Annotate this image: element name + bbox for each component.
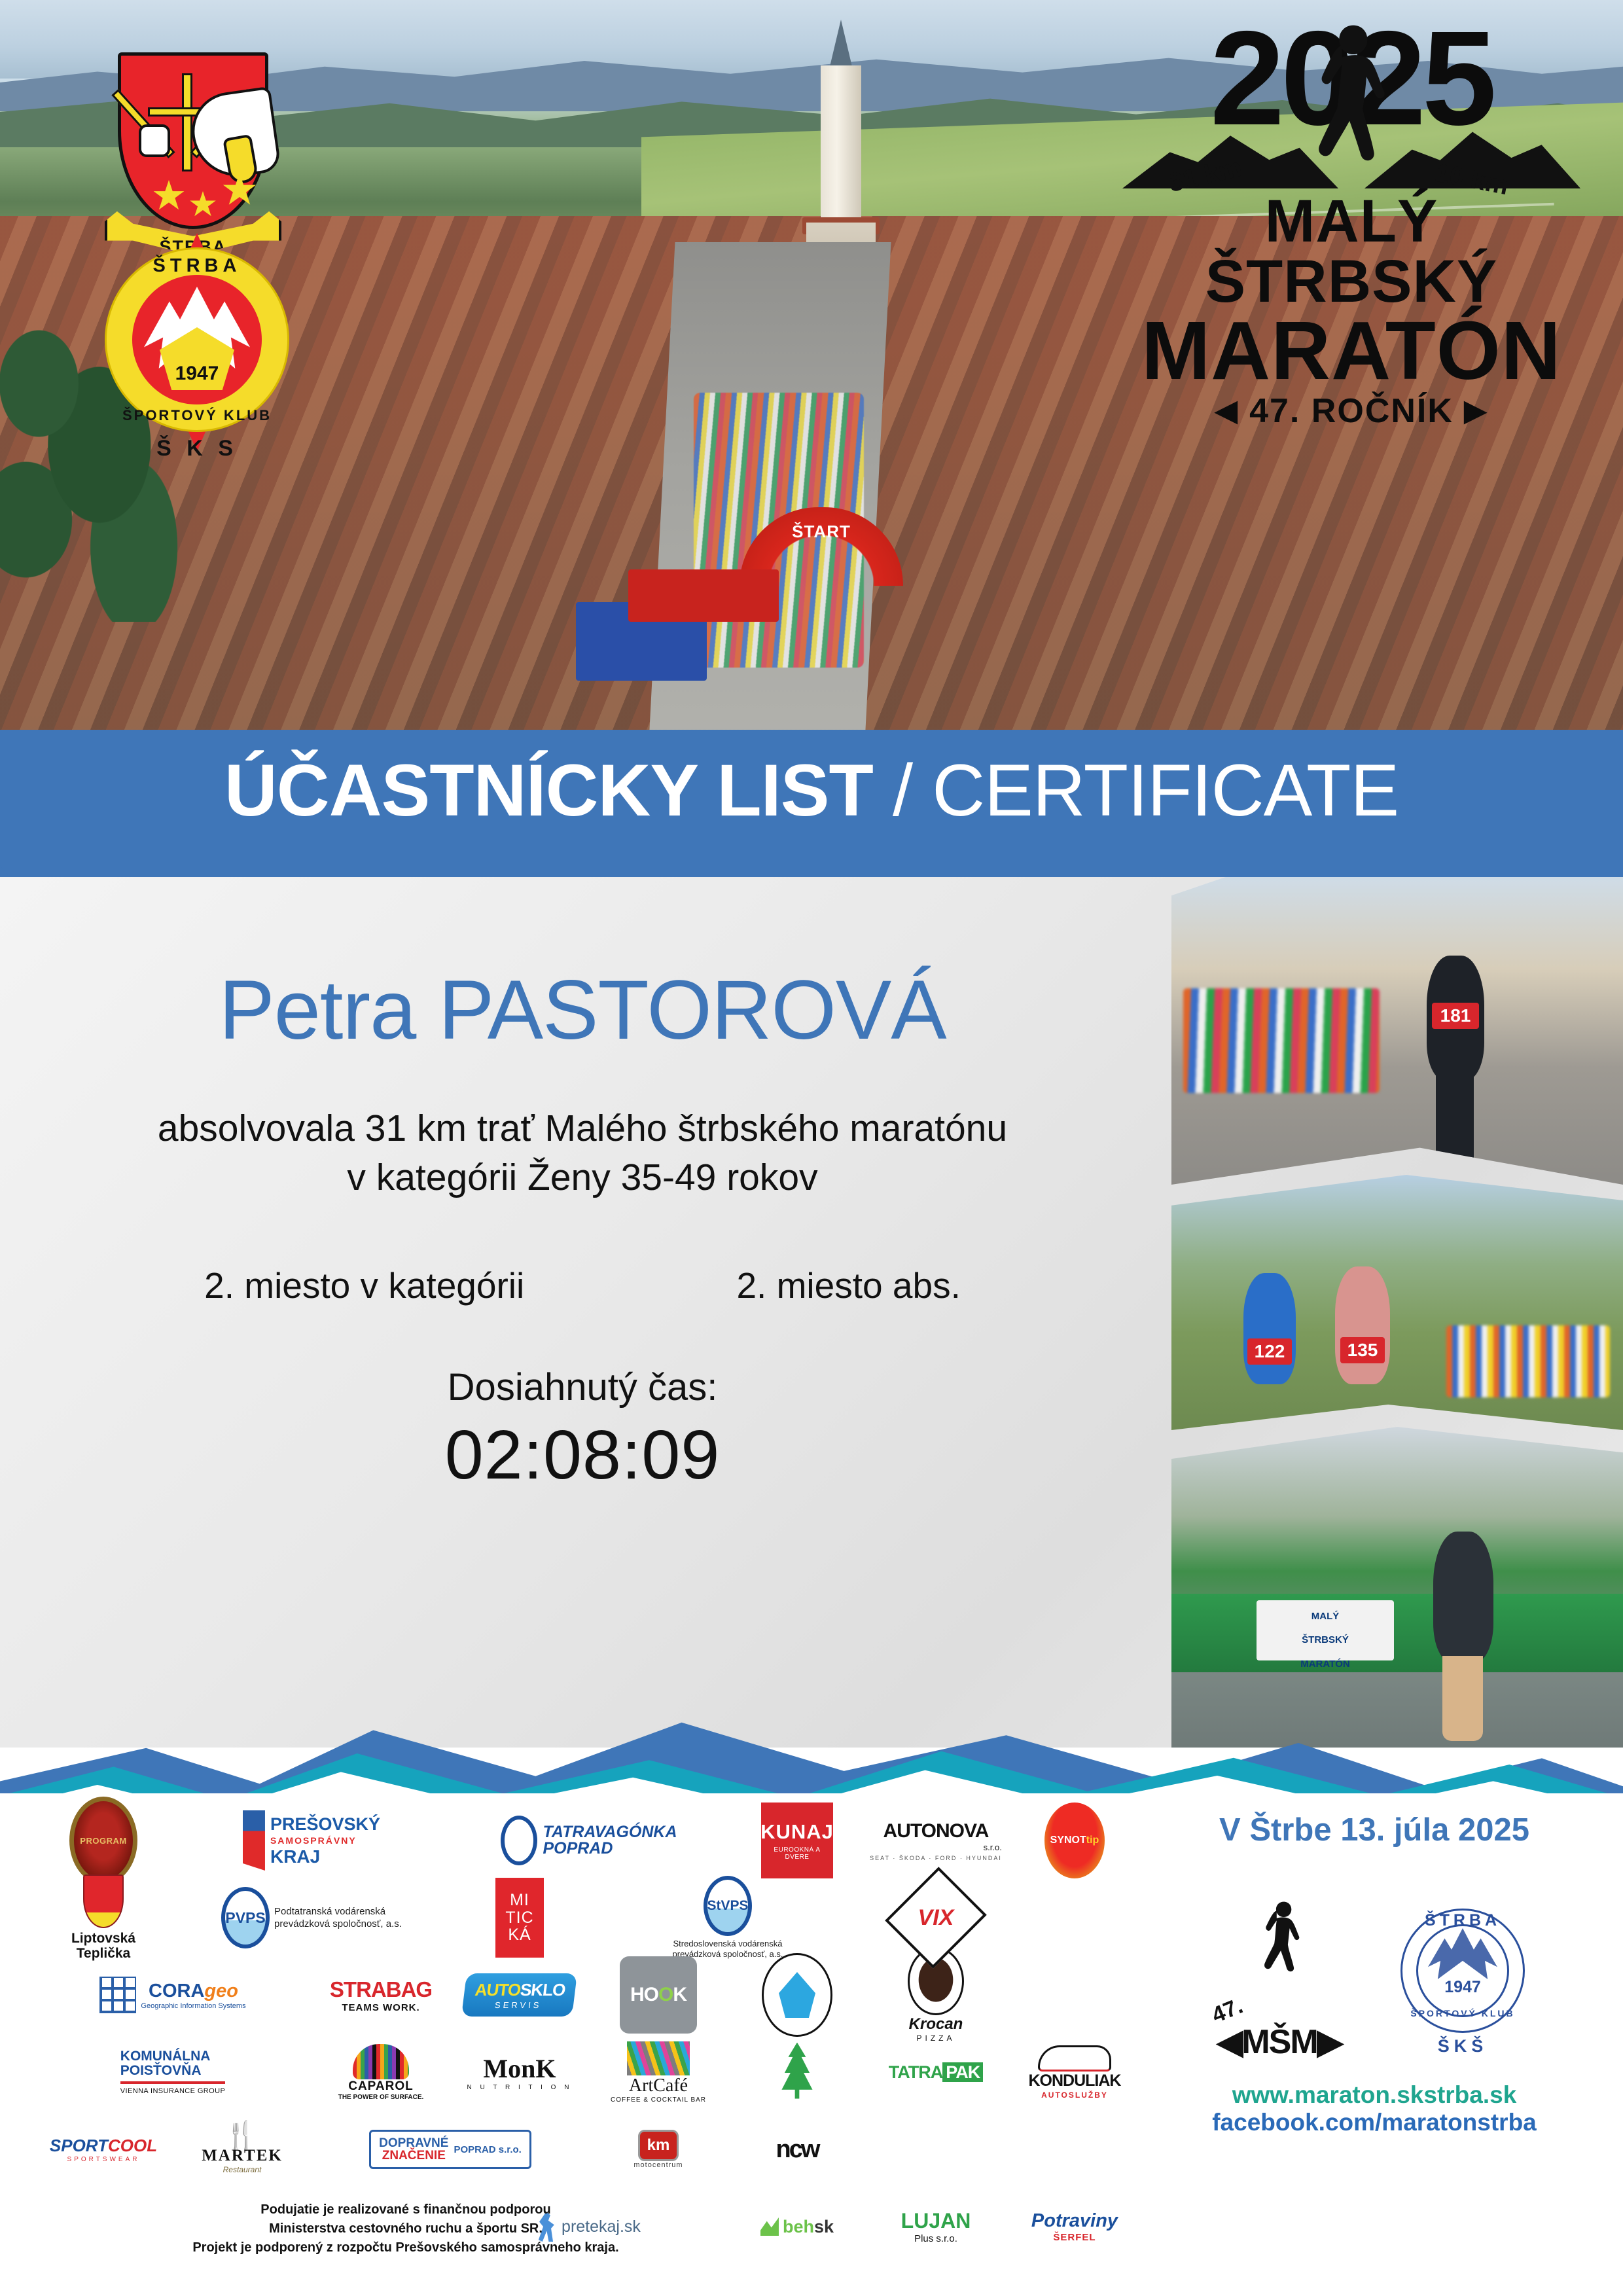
sponsor-label: km bbox=[638, 2130, 679, 2161]
autonova-logo: AUTONOVA s.r.o. SEAT · ŠKODA · FORD · HY… bbox=[870, 1820, 1002, 1861]
sponsor-tatravagonka: TATRAVAGÓNKA POPRAD bbox=[452, 1805, 726, 1876]
komunalna-poistovna-logo: KOMUNÁLNA POISŤOVŇA VIENNA INSURANCE GRO… bbox=[120, 2049, 225, 2095]
sponsor-label: MonK bbox=[467, 2053, 573, 2084]
sponsor-sublabel2: POPRAD s.r.o. bbox=[454, 2144, 521, 2155]
caparol-logo: CAPAROL THE POWER OF SURFACE. bbox=[338, 2044, 424, 2101]
sponsor-label: AUTO bbox=[474, 1980, 522, 2000]
water-drop-icon: PVPS bbox=[221, 1887, 270, 1948]
strabag-logo: STRABAG TEAMS WORK. bbox=[330, 1977, 432, 2013]
place-and-date: V Štrbe 13. júla 2025 bbox=[1145, 1812, 1603, 1848]
sponsor-sportcool: SPORTCOOL SPORTSWEAR bbox=[36, 2114, 171, 2185]
cross-vertical bbox=[182, 73, 192, 171]
runner-legs bbox=[1436, 1073, 1474, 1172]
sponsor-pvps: PVPS Podtatranská vodárenská prevádzková… bbox=[175, 1882, 448, 1953]
sponsor-autosklo: AUTOSKLO SERVIS bbox=[452, 1960, 587, 2030]
stamp-year: 1947 bbox=[1387, 1978, 1538, 1997]
flag-icon bbox=[243, 1810, 265, 1871]
vix-logo: VIX bbox=[885, 1867, 987, 1969]
sponsor-label: KONDULIAK bbox=[1029, 2072, 1121, 2090]
sponsor-corageo: CORAgeo Geographic Information Systems bbox=[36, 1960, 310, 2030]
sponsor-label: ArtCafé bbox=[611, 2075, 706, 2096]
sponsor-sublabel: ŠERFEL bbox=[1031, 2232, 1118, 2243]
footer-logos: 47. ◀MŠM▶ ŠTRBA 1947 ŠPORTOVÝ KLUB ŠKŠ bbox=[1145, 1899, 1603, 2063]
sponsor-label: CAPAROL bbox=[338, 2079, 424, 2094]
autosklo-logo: AUTOSKLO SERVIS bbox=[461, 1973, 578, 2017]
sks-stamp-logo: ŠTRBA 1947 ŠPORTOVÝ KLUB ŠKŠ bbox=[1387, 1899, 1538, 2063]
sponsor-sublabel2: SPORTSWEAR bbox=[50, 2156, 157, 2163]
sponsor-strabag: STRABAG TEAMS WORK. bbox=[313, 1960, 448, 2030]
photo-course: 122 135 bbox=[1171, 1175, 1623, 1430]
sponsor-potraviny-serfel: Potraviny ŠERFEL bbox=[1007, 2191, 1142, 2262]
water-drop-icon: StVPS bbox=[704, 1876, 752, 1936]
sponsor-sublabel: ZNAČENIE bbox=[382, 2149, 446, 2162]
sponsor-sublabel2: Geographic Information Systems bbox=[141, 2002, 245, 2010]
bib-number: 135 bbox=[1340, 1337, 1385, 1363]
sponsor-sublabel: geo bbox=[204, 1981, 238, 2001]
sponsor-label: SYNOT bbox=[1050, 1835, 1086, 1846]
corageo-logo: CORAgeo Geographic Information Systems bbox=[99, 1977, 245, 2013]
sponsor-presovsky-kraj: PREŠOVSKÝ SAMOSPRÁVNY KRAJ bbox=[175, 1805, 448, 1876]
artcafe-logo: ArtCafé COFFEE & COCKTAIL BAR bbox=[611, 2041, 706, 2104]
sponsor-sublabel: O bbox=[658, 1984, 673, 2006]
sponsor-kunaj: KUNAJ EUROOKNÁ A DVERE bbox=[730, 1805, 865, 1876]
sponsor-konduliak: KONDULIAK AUTOSLUŽBY bbox=[1007, 2037, 1142, 2108]
club-year: 1947 bbox=[105, 363, 289, 385]
sponsor-dopravne-znacenie: DOPRAVNÉ ZNAČENIE POPRAD s.r.o. bbox=[313, 2114, 587, 2185]
event-edition-row: ◀ 47. ROČNÍK ▶ bbox=[1116, 391, 1587, 431]
water-drop-icon bbox=[779, 1972, 815, 2018]
sponsor-sublabel: EUROOKNÁ A DVERE bbox=[761, 1846, 833, 1861]
sponsor-ncw: ncw bbox=[730, 2114, 865, 2185]
sponsor-autonova: AUTONOVA s.r.o. SEAT · ŠKODA · FORD · HY… bbox=[868, 1805, 1003, 1876]
sponsor-sublabel: COFFEE & COCKTAIL BAR bbox=[611, 2096, 706, 2104]
certificate-page: ŠTART ŠTRBA ŠTRBA 1947 ŠPORTOVÝ KLUB Š K… bbox=[0, 0, 1623, 2296]
sponsor-label: KUNAJ bbox=[760, 1820, 834, 1844]
sponsor-label: PVPS bbox=[225, 1909, 265, 1927]
sponsor-program-trencin: PROGRAM bbox=[36, 1805, 171, 1876]
msm-abbrev-text: MŠM bbox=[1241, 2023, 1317, 2061]
synot-tip-logo: SYNOTtip bbox=[1044, 1803, 1105, 1878]
sponsor-sublabel2: VIENNA INSURANCE GROUP bbox=[120, 2087, 225, 2095]
sign-line3: MARATÓN bbox=[1257, 1657, 1394, 1672]
description-line1: absolvovala 31 km trať Malého štrbského … bbox=[39, 1104, 1126, 1153]
event-title-line2: MARATÓN bbox=[1116, 312, 1587, 390]
martek-restaurant-logo: 🍴 MARTEK Restaurant bbox=[202, 2125, 283, 2174]
sponsor-label: ncw bbox=[776, 2136, 819, 2163]
event-banner-sign: MALÝ ŠTRBSKÝ MARATÓN bbox=[1257, 1600, 1394, 1660]
sponsor-label: SPORT bbox=[50, 2136, 108, 2155]
stamp-ring-text: ŠPORTOVÝ KLUB bbox=[1387, 2008, 1538, 2018]
sponsor-label: beh bbox=[783, 2217, 814, 2236]
facebook-url[interactable]: facebook.com/maratonstrba bbox=[1145, 2109, 1603, 2136]
sponsor-sublabel: PAK bbox=[942, 2062, 983, 2082]
sponsor-label: Krocan bbox=[908, 2015, 964, 2034]
participant-name: Petra PASTOROVÁ bbox=[39, 962, 1126, 1058]
km-motocentrum-logo: km motocentrum bbox=[633, 2130, 683, 2169]
bib-number: 122 bbox=[1247, 1338, 1292, 1365]
sponsor-sublabel: THE POWER OF SURFACE. bbox=[338, 2094, 424, 2101]
club-top-text: ŠTRBA bbox=[105, 255, 289, 277]
sponsor-sublabel2: SERVIS bbox=[473, 2000, 563, 2010]
sponsor-sublabel: tip bbox=[1086, 1835, 1099, 1846]
tatrapak-logo: TATRAPAK bbox=[889, 2062, 984, 2083]
photo-collage: 181 122 135 MALÝ ŠTRBSKÝ MARATÓN bbox=[1171, 877, 1623, 1748]
sponsor-lujan: LUJAN Plus s.r.o. bbox=[868, 2191, 1003, 2262]
funding-disclaimer: Podujatie je realizované s finančnou pod… bbox=[52, 2200, 759, 2257]
sponsor-caparol: CAPAROL THE POWER OF SURFACE. bbox=[313, 2037, 448, 2108]
green-barrier bbox=[1171, 1594, 1623, 1672]
sponsor-sublabel: Teplička bbox=[71, 1946, 135, 1961]
sponsor-sublabel: TIC bbox=[505, 1909, 533, 1927]
sponsor-sublabel: Restaurant bbox=[202, 2165, 283, 2174]
sponsor-label: PREŠOVSKÝ bbox=[270, 1816, 380, 1833]
mountain-distance-graphic: 31 km 10 km bbox=[1116, 127, 1587, 191]
dopravne-znacenie-logo: DOPRAVNÉ ZNAČENIE POPRAD s.r.o. bbox=[369, 2130, 531, 2169]
ellipse-icon bbox=[501, 1816, 537, 1865]
fist bbox=[139, 124, 170, 157]
lujan-logo: LUJAN Plus s.r.o. bbox=[901, 2209, 971, 2244]
potraviny-serfel-logo: Potraviny ŠERFEL bbox=[1031, 2210, 1118, 2243]
sponsor-km-motocentrum: km motocentrum bbox=[591, 2114, 726, 2185]
disclaimer-line1: Podujatie je realizované s finančnou pod… bbox=[52, 2200, 759, 2219]
bib-number: 181 bbox=[1432, 1003, 1479, 1029]
sponsor-pd-strba bbox=[730, 1960, 865, 2030]
tatravagonka-logo: TATRAVAGÓNKA POPRAD bbox=[501, 1816, 677, 1865]
sponsor-sublabel2: KÁ bbox=[508, 1926, 531, 1944]
contact-urls: www.maraton.skstrba.sk facebook.com/mara… bbox=[1145, 2081, 1603, 2136]
event-title-block: 2025 31 km 10 km MALÝ ŠTRBSKÝ MARATÓN ◀ … bbox=[1116, 26, 1587, 431]
sponsor-label: TATRA bbox=[889, 2062, 942, 2082]
msm-abbrev: ◀MŠM▶ bbox=[1211, 2022, 1348, 2062]
sponsor-label: PROGRAM bbox=[80, 1836, 126, 1846]
sponsor-label: Potraviny bbox=[1031, 2210, 1118, 2232]
banner-title-sk: ÚČASTNÍCKY LIST bbox=[224, 749, 873, 831]
sponsor-sublabel: SAMOSPRÁVNY bbox=[270, 1835, 380, 1846]
sponsor-synot-tip: SYNOTtip bbox=[1007, 1805, 1142, 1876]
spectators bbox=[1183, 988, 1380, 1093]
banner-separator: / bbox=[873, 749, 932, 831]
sponsor-sublabel: motocentrum bbox=[633, 2161, 683, 2169]
stamp-top-text: ŠTRBA bbox=[1387, 1911, 1538, 1930]
sponsor-label: StVPS bbox=[707, 1898, 748, 1914]
sponsor-label: DOPRAVNÉ bbox=[379, 2137, 448, 2149]
sponsor-sublabel2: K bbox=[673, 1984, 687, 2006]
sponsor-komunalna-poistovna: KOMUNÁLNA POISŤOVŇA VIENNA INSURANCE GRO… bbox=[36, 2037, 310, 2108]
stvps-logo: StVPS Stredoslovenská vodárenská prevádz… bbox=[673, 1876, 783, 1960]
finish-time: 02:08:09 bbox=[39, 1416, 1126, 1495]
sponsor-monk: MonK N U T R I T I O N bbox=[452, 2037, 587, 2108]
sponsor-artcafe: ArtCafé COFFEE & COCKTAIL BAR bbox=[591, 2037, 726, 2108]
sponsor-sublabel: N U T R I T I O N bbox=[467, 2084, 573, 2091]
sponsor-ps-urbar-strba: PS URBÁR ŠTRBA bbox=[730, 2037, 865, 2108]
sponsor-sublabel: TEAMS WORK. bbox=[330, 2002, 432, 2013]
sportcool-logo: SPORTCOOL SPORTSWEAR bbox=[50, 2136, 157, 2163]
sponsor-sublabel: POPRAD bbox=[543, 1840, 677, 1857]
stamp-bottom-text: ŠKŠ bbox=[1387, 2036, 1538, 2056]
runner-silhouette-icon bbox=[1251, 1899, 1311, 2017]
sponsor-sublabel: Podtatranská vodárenská bbox=[274, 1905, 402, 1918]
shield-icon bbox=[83, 1874, 124, 1928]
disclaimer-line2: Ministerstva cestovného ruchu a športu S… bbox=[52, 2219, 759, 2238]
winning-runner bbox=[1433, 1532, 1493, 1662]
disclaimer-line3: Projekt je podporený z rozpočtu Prešovsk… bbox=[52, 2238, 759, 2257]
grid-icon bbox=[99, 1977, 136, 2013]
konduliak-logo: KONDULIAK AUTOSLUŽBY bbox=[1029, 2045, 1121, 2100]
car-brands: SEAT · ŠKODA · FORD · HYUNDAI bbox=[870, 1855, 1002, 1861]
program-trencin-logo: PROGRAM bbox=[69, 1797, 137, 1884]
sponsor-sublabel: Plus s.r.o. bbox=[901, 2233, 971, 2244]
footer-right-column: V Štrbe 13. júla 2025 47. ◀MŠM▶ ŠTRBA bbox=[1145, 1800, 1603, 2136]
sponsor-tatrapak: TATRAPAK bbox=[868, 2037, 1003, 2108]
liptovska-teplicka-logo: Liptovská Teplička bbox=[71, 1874, 135, 1961]
sponsor-sublabel: sk bbox=[814, 2217, 834, 2236]
miticka-logo: MI TIC KÁ bbox=[495, 1878, 544, 1958]
website-url[interactable]: www.maraton.skstrba.sk bbox=[1145, 2081, 1603, 2109]
sponsor-sublabel: SKLO bbox=[520, 1980, 567, 2000]
red-tent bbox=[628, 569, 779, 622]
msm-logo: 47. ◀MŠM▶ bbox=[1211, 1899, 1348, 2063]
runner-body bbox=[1243, 1273, 1296, 1384]
sponsor-miticka: MI TIC KÁ bbox=[452, 1882, 587, 1953]
sponsor-vix: VIX bbox=[868, 1882, 1003, 1953]
sponsor-label: KOMUNÁLNA bbox=[120, 2049, 225, 2064]
sponsor-stvps: StVPS Stredoslovenská vodárenská prevádz… bbox=[591, 1882, 865, 1953]
divider bbox=[120, 2081, 225, 2084]
club-abbrev: Š K S bbox=[105, 436, 289, 461]
sponsor-hook: HOOK bbox=[591, 1960, 726, 2030]
sponsor-liptovska-teplicka: Liptovská Teplička bbox=[36, 1882, 171, 1953]
beh-sk-logo: behsk bbox=[760, 2217, 834, 2237]
placements-row: 2. miesto v kategórii 2. miesto abs. bbox=[39, 1265, 1126, 1306]
sponsor-sublabel2: KRAJ bbox=[270, 1848, 380, 1866]
description-line2: v kategórii Ženy 35-49 rokov bbox=[39, 1153, 1126, 1202]
sponsor-label: TATRAVAGÓNKA bbox=[543, 1824, 677, 1840]
sponsor-grid: PROGRAM PREŠOVSKÝ SAMOSPRÁVNY KRAJ bbox=[36, 1805, 1142, 2262]
sponsor-label: Liptovská bbox=[71, 1931, 135, 1946]
sponsor-krocan-pizza: Krocan PIZZA bbox=[868, 1960, 1003, 2030]
check-icon bbox=[760, 2217, 779, 2236]
certificate-description: absolvovala 31 km trať Malého štrbského … bbox=[39, 1104, 1126, 1202]
arrow-right-icon: ▶ bbox=[1464, 395, 1488, 427]
kunaj-logo: KUNAJ EUROOKNÁ A DVERE bbox=[761, 1803, 833, 1878]
sponsor-martek: 🍴 MARTEK Restaurant bbox=[175, 2114, 310, 2185]
pvps-logo: PVPS Podtatranská vodárenská prevádzková… bbox=[221, 1887, 402, 1948]
sponsor-label: CORA bbox=[149, 1981, 204, 2001]
sponsor-label: STRABAG bbox=[330, 1977, 432, 2002]
sks-club-logo: ŠTRBA 1947 ŠPORTOVÝ KLUB bbox=[105, 247, 289, 432]
sponsor-sublabel: POISŤOVŇA bbox=[120, 2064, 225, 2078]
car-icon bbox=[1038, 2045, 1111, 2072]
sponsor-label: HO bbox=[630, 1984, 658, 2006]
ps-urbar-logo: PS URBÁR ŠTRBA bbox=[778, 2043, 815, 2102]
sponsor-sublabel: Stredoslovenská vodárenská bbox=[673, 1939, 783, 1949]
footer: PROGRAM PREŠOVSKÝ SAMOSPRÁVNY KRAJ bbox=[0, 1793, 1623, 2296]
event-edition: 47. ROČNÍK bbox=[1249, 392, 1454, 430]
hook-logo: HOOK bbox=[620, 1956, 697, 2034]
ncw-logo: ncw bbox=[776, 2136, 819, 2164]
coffee-icon bbox=[627, 2041, 690, 2075]
photo-finisher: 181 bbox=[1171, 877, 1623, 1185]
sponsor-label: AUTONOVA bbox=[870, 1820, 1002, 1842]
sponsor-label: MI bbox=[510, 1892, 529, 1909]
banner-title: ÚČASTNÍCKY LIST / CERTIFICATE bbox=[0, 748, 1623, 833]
arrow-left-icon: ◀ bbox=[1215, 395, 1239, 427]
elephant-icon bbox=[353, 2044, 409, 2079]
sponsor-sublabel: AUTOSLUŽBY bbox=[1029, 2090, 1121, 2100]
certificate-text-block: Petra PASTOROVÁ absolvovala 31 km trať M… bbox=[39, 962, 1126, 1495]
club-bottom-text: ŠPORTOVÝ KLUB bbox=[105, 407, 289, 424]
place-absolute: 2. miesto abs. bbox=[736, 1265, 960, 1306]
pd-strba-logo bbox=[762, 1953, 832, 2037]
distant-runners bbox=[1446, 1325, 1610, 1397]
certificate-banner: ÚČASTNÍCKY LIST / CERTIFICATE bbox=[0, 730, 1623, 877]
place-category: 2. miesto v kategórii bbox=[204, 1265, 524, 1306]
sponsor-label: LUJAN bbox=[901, 2209, 971, 2233]
time-label: Dosiahnutý čas: bbox=[39, 1365, 1126, 1409]
monk-nutrition-logo: MonK N U T R I T I O N bbox=[467, 2053, 573, 2091]
banner-title-en: CERTIFICATE bbox=[932, 749, 1399, 831]
sponsor-sublabel2: prevádzková spoločnosť, a.s. bbox=[274, 1918, 402, 1931]
presovsky-kraj-logo: PREŠOVSKÝ SAMOSPRÁVNY KRAJ bbox=[243, 1810, 380, 1871]
sign-line2: ŠTRBSKÝ bbox=[1257, 1633, 1394, 1648]
runner-body bbox=[1335, 1266, 1390, 1384]
cutlery-icon: 🍴 bbox=[202, 2125, 283, 2147]
sign-line1: MALÝ bbox=[1257, 1609, 1394, 1624]
sponsor-sublabel: s.r.o. bbox=[870, 1842, 1002, 1852]
sponsor-label: VIX bbox=[918, 1905, 954, 1931]
sponsor-sublabel: COOL bbox=[108, 2136, 157, 2155]
sponsor-label: MARTEK bbox=[202, 2147, 283, 2165]
